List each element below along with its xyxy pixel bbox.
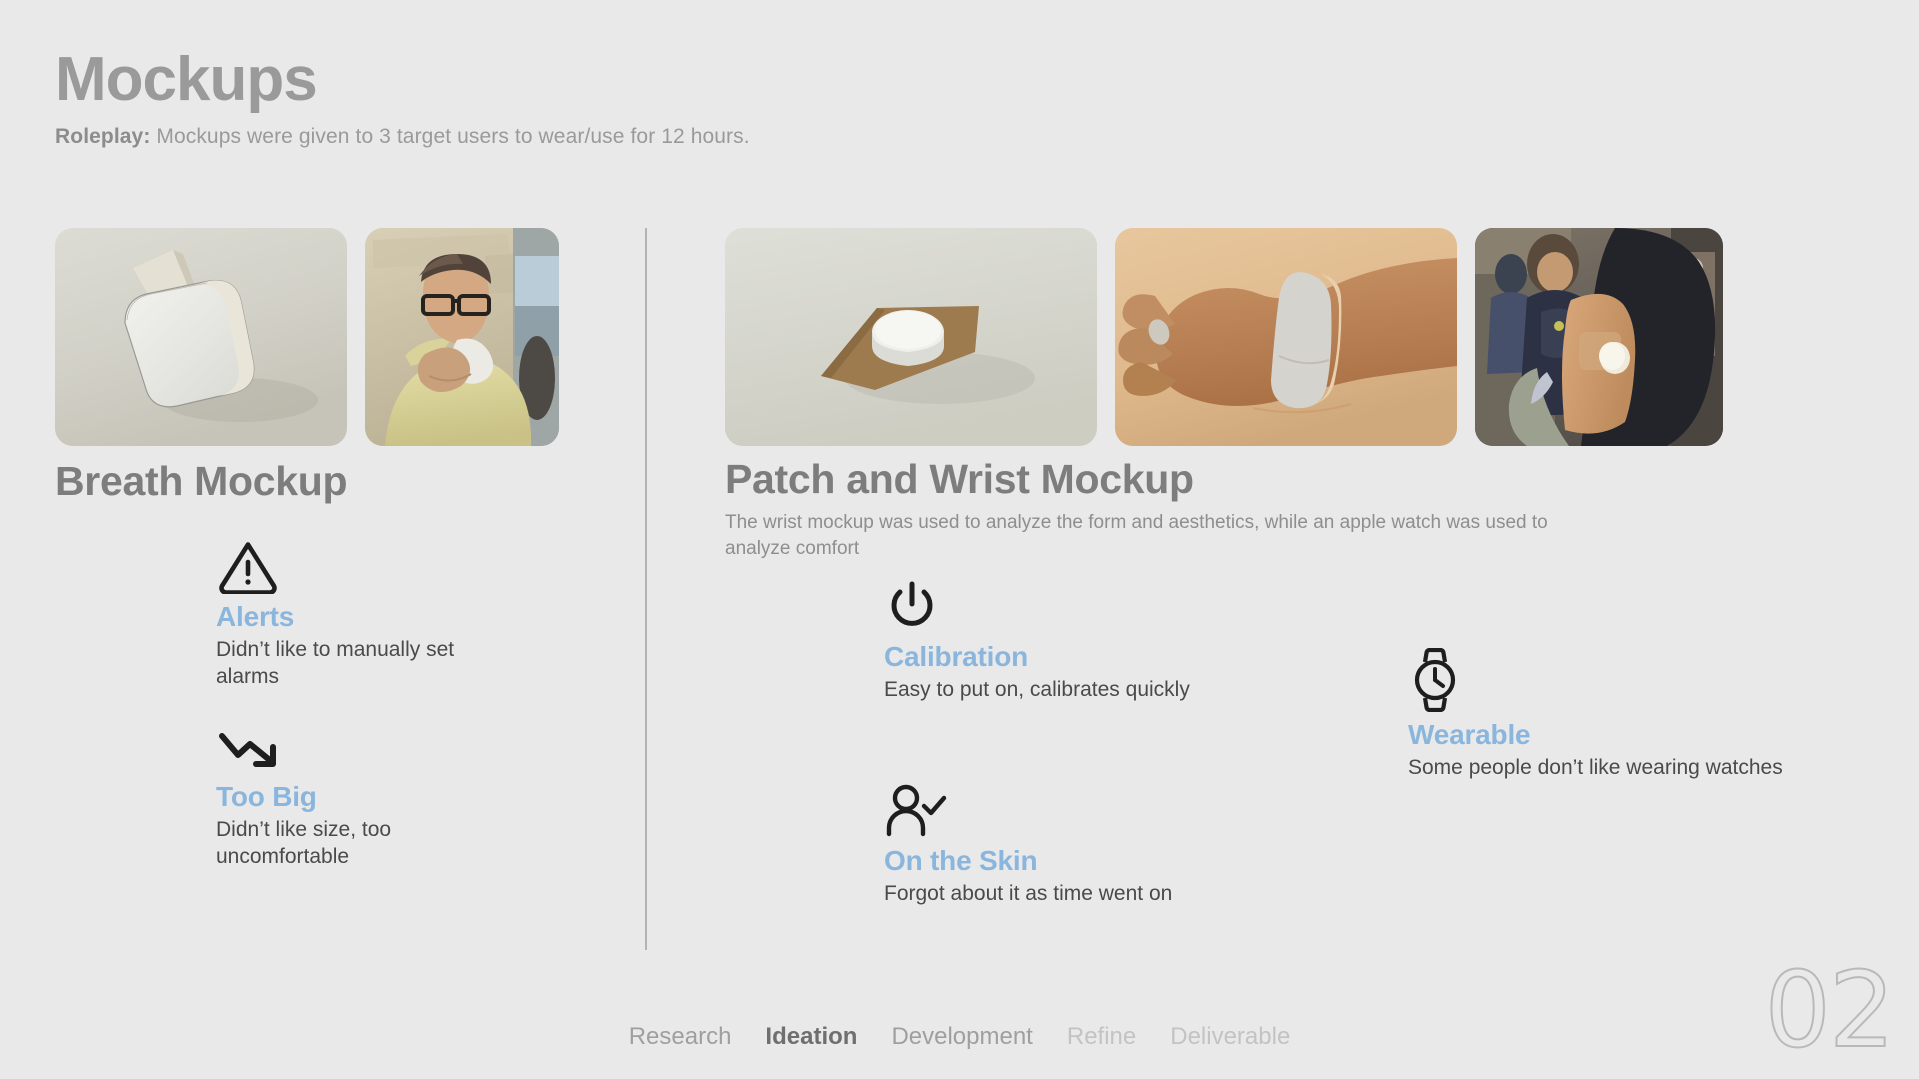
subtitle-rest: Mockups were given to 3 target users to … <box>150 125 749 148</box>
patch-mockup-photo <box>725 228 1097 446</box>
feature-on-the-skin-body: Forgot about it as time went on <box>884 881 1284 908</box>
right-section-description: The wrist mockup was used to analyze the… <box>725 510 1615 561</box>
right-section-title: Patch and Wrist Mockup <box>725 458 1645 501</box>
feature-wearable: Wearable Some people don’t like wearing … <box>1408 648 1808 782</box>
nav-item-development[interactable]: Development <box>891 1023 1032 1051</box>
nav-item-refine[interactable]: Refine <box>1067 1023 1136 1051</box>
subtitle-lead: Roleplay: <box>55 125 150 148</box>
feature-too-big: Too Big Didn’t like size, too uncomforta… <box>216 728 516 871</box>
right-photo-row <box>725 228 1723 446</box>
left-section-title: Breath Mockup <box>55 460 595 503</box>
wrist-band-mockup-photo <box>1115 228 1457 446</box>
slide-header: Mockups Roleplay: Mockups were given to … <box>55 48 750 149</box>
feature-calibration-label: Calibration <box>884 642 1284 673</box>
slide-canvas: Mockups Roleplay: Mockups were given to … <box>0 0 1919 1079</box>
right-section: Patch and Wrist Mockup The wrist mockup … <box>725 458 1645 580</box>
power-icon <box>884 578 1284 634</box>
arm-patch-worn-photo <box>1475 228 1723 446</box>
person-check-icon <box>884 784 1284 838</box>
user-using-breath-device-photo <box>365 228 559 446</box>
page-title: Mockups <box>55 48 750 111</box>
feature-calibration: Calibration Easy to put on, calibrates q… <box>884 578 1284 704</box>
feature-calibration-body: Easy to put on, calibrates quickly <box>884 677 1284 704</box>
section-divider <box>645 228 647 950</box>
nav-item-deliverable[interactable]: Deliverable <box>1170 1023 1290 1051</box>
feature-wearable-body: Some people don’t like wearing watches <box>1408 755 1808 782</box>
feature-too-big-label: Too Big <box>216 782 516 813</box>
slide-subtitle: Roleplay: Mockups were given to 3 target… <box>55 125 750 149</box>
left-photo-row <box>55 228 559 446</box>
feature-on-the-skin: On the Skin Forgot about it as time went… <box>884 784 1284 908</box>
trending-down-icon <box>216 728 516 774</box>
feature-alerts: Alerts Didn’t like to manually set alarm… <box>216 538 516 691</box>
page-number: 02 <box>1765 958 1893 1062</box>
nav-item-research[interactable]: Research <box>629 1023 732 1051</box>
footer-navigation: Research Ideation Development Refine Del… <box>0 1023 1919 1051</box>
warning-triangle-icon <box>216 538 516 594</box>
breath-device-mockup-photo <box>55 228 347 446</box>
left-section: Breath Mockup <box>55 460 595 503</box>
feature-alerts-label: Alerts <box>216 602 516 633</box>
feature-on-the-skin-label: On the Skin <box>884 846 1284 877</box>
feature-wearable-label: Wearable <box>1408 720 1808 751</box>
watch-icon <box>1408 648 1808 712</box>
nav-item-ideation[interactable]: Ideation <box>765 1023 857 1051</box>
feature-too-big-body: Didn’t like size, too uncomfortable <box>216 817 516 871</box>
feature-alerts-body: Didn’t like to manually set alarms <box>216 637 516 691</box>
